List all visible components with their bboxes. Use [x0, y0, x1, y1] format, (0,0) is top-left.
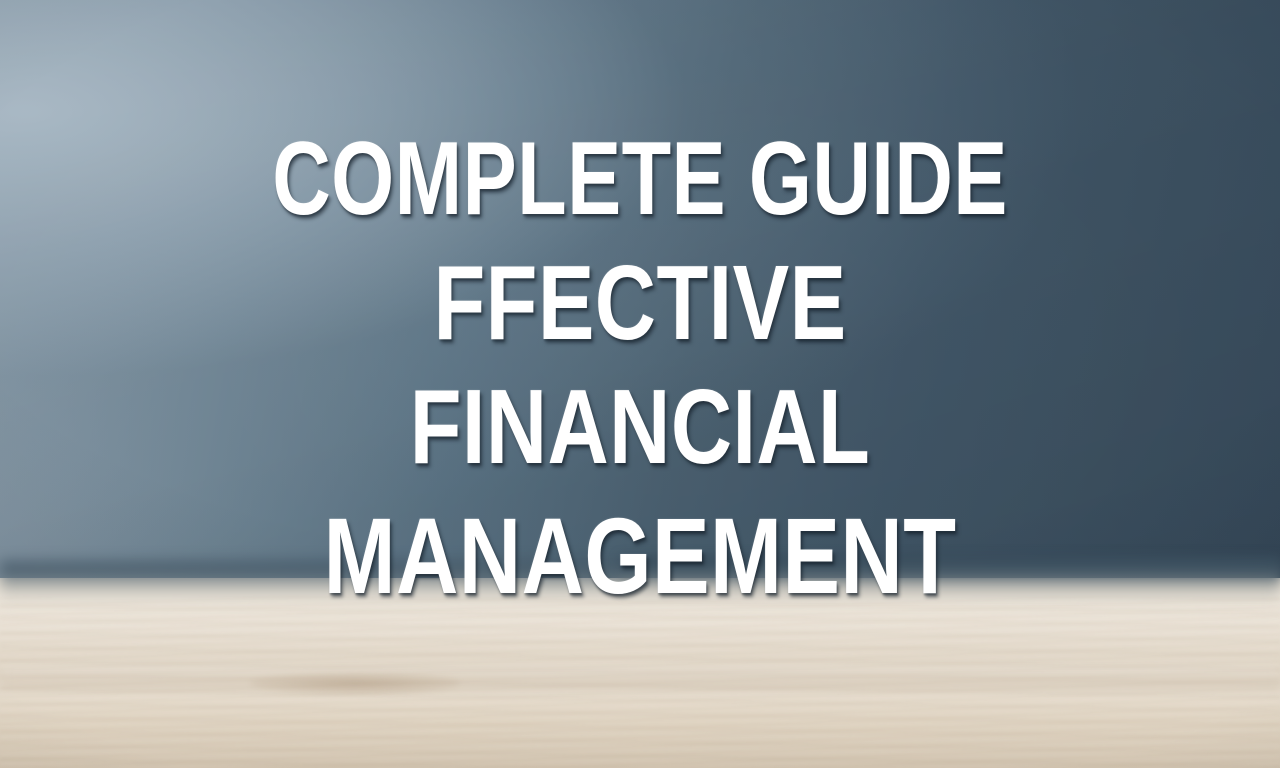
- headline-line-4: MANAGEMENT: [128, 502, 1152, 610]
- headline-line-1: COMPLETE GUIDE: [141, 127, 1139, 231]
- headline-line-3: FINANCIAL: [128, 374, 1152, 480]
- title-card-canvas: COMPLETE GUIDE FFECTIVE FINANCIAL MANAGE…: [0, 0, 1280, 768]
- coin-stack-center: [543, 596, 727, 700]
- headline-line-2: FFECTIVE: [128, 250, 1152, 356]
